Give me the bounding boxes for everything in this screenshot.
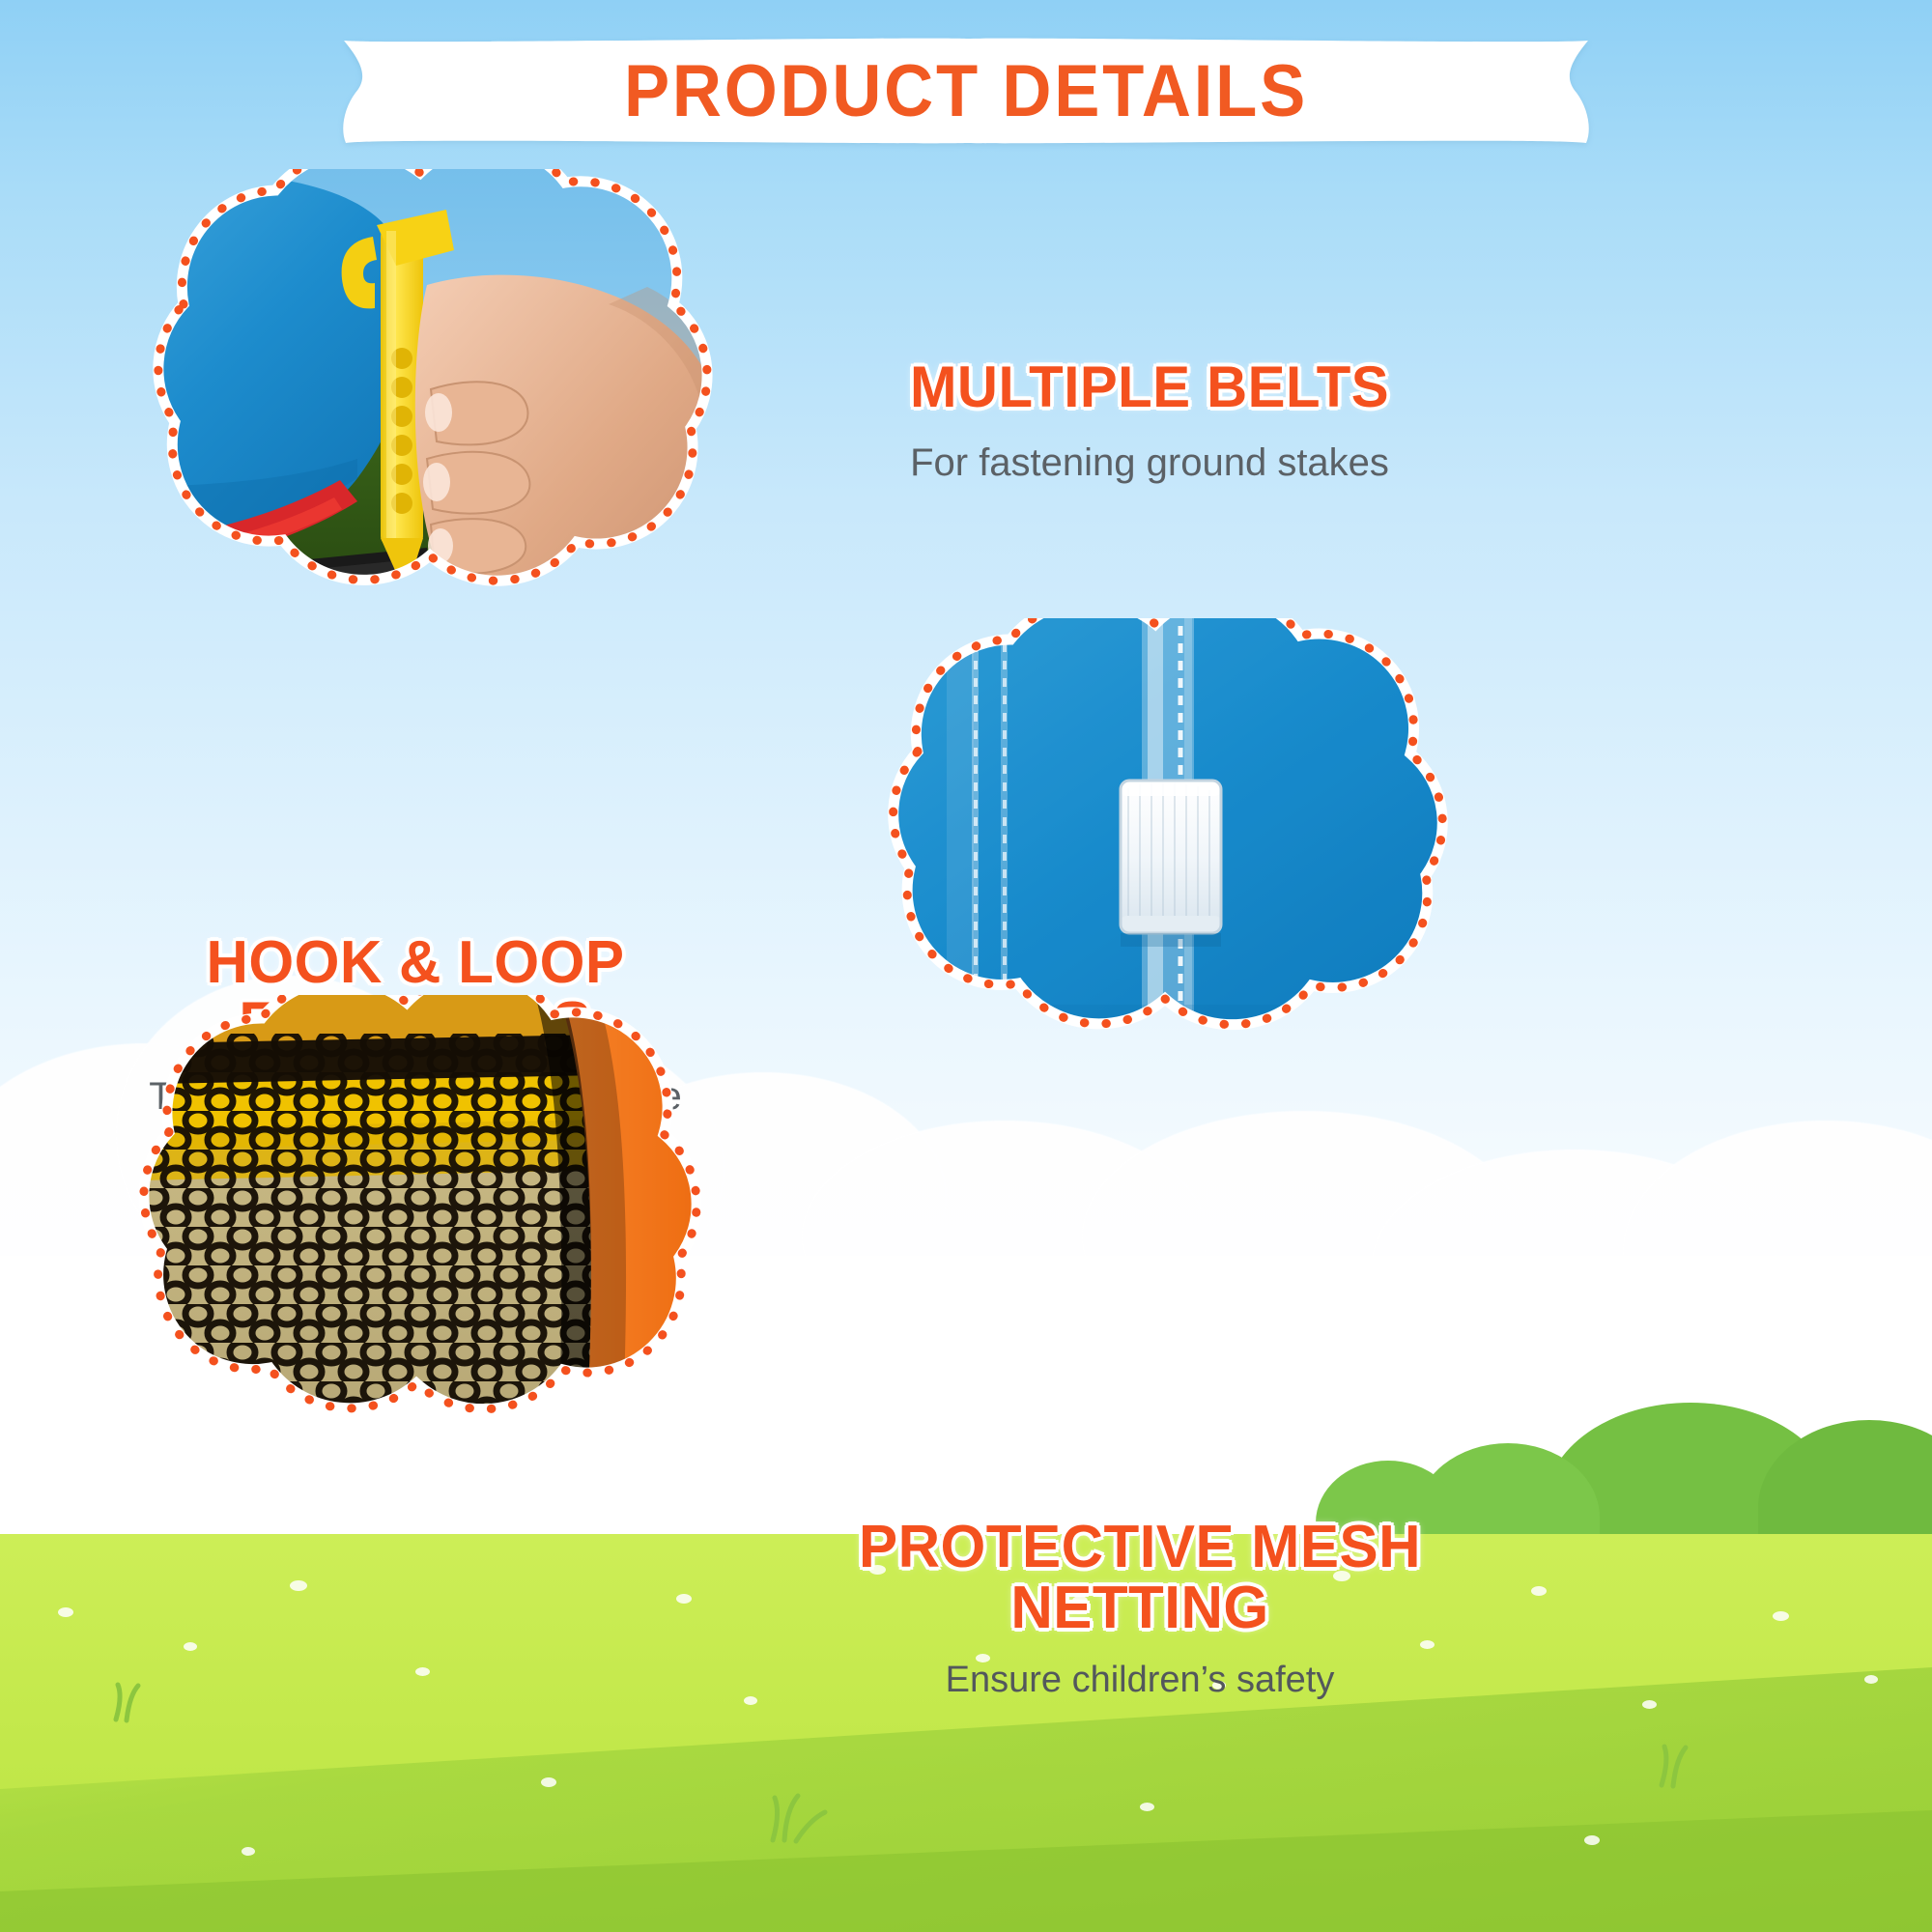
feature-title-multiple-belts: MULTIPLE BELTS (859, 357, 1439, 416)
grass-shade-band-2 (0, 1797, 1932, 1932)
photo-hook-and-loop (802, 618, 1497, 1101)
feature-mesh-netting: PROTECTIVE MESH NETTING Ensure children’… (802, 1517, 1478, 1701)
photo-card-multiple-belts (68, 169, 744, 662)
page-title: PRODUCT DETAILS (333, 33, 1598, 149)
feature-title-mesh-netting-line1: PROTECTIVE MESH (812, 1517, 1468, 1577)
feature-title-mesh-netting-line2: NETTING (812, 1577, 1468, 1638)
grass-shade-band (0, 1667, 1932, 1932)
photo-multiple-belts (68, 169, 744, 662)
photo-mesh-netting (53, 995, 749, 1488)
infographic-canvas: PRODUCT DETAILS (0, 0, 1932, 1932)
feature-subtitle-mesh-netting: Ensure children’s safety (802, 1660, 1478, 1701)
photo-card-mesh-netting (53, 995, 749, 1488)
feature-title-hook-and-loop-line1: HOOK & LOOP (116, 932, 716, 993)
photo-card-hook-and-loop (802, 618, 1497, 1101)
header-banner: PRODUCT DETAILS (286, 33, 1646, 149)
feature-subtitle-multiple-belts: For fastening ground stakes (850, 441, 1449, 485)
feature-multiple-belts: MULTIPLE BELTS For fastening ground stak… (850, 357, 1449, 485)
